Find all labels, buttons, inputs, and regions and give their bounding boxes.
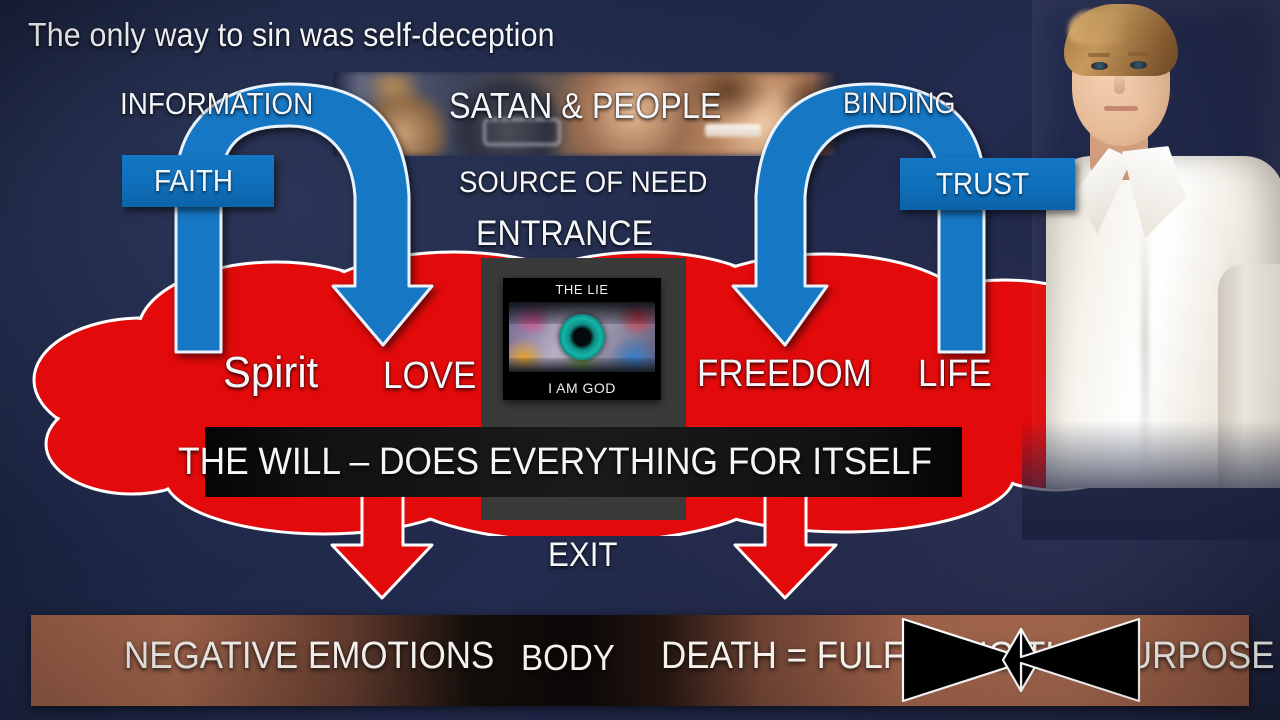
slide-canvas: THE LIE I AM GOD xyxy=(0,0,1280,720)
vignette-overlay xyxy=(0,0,1280,720)
